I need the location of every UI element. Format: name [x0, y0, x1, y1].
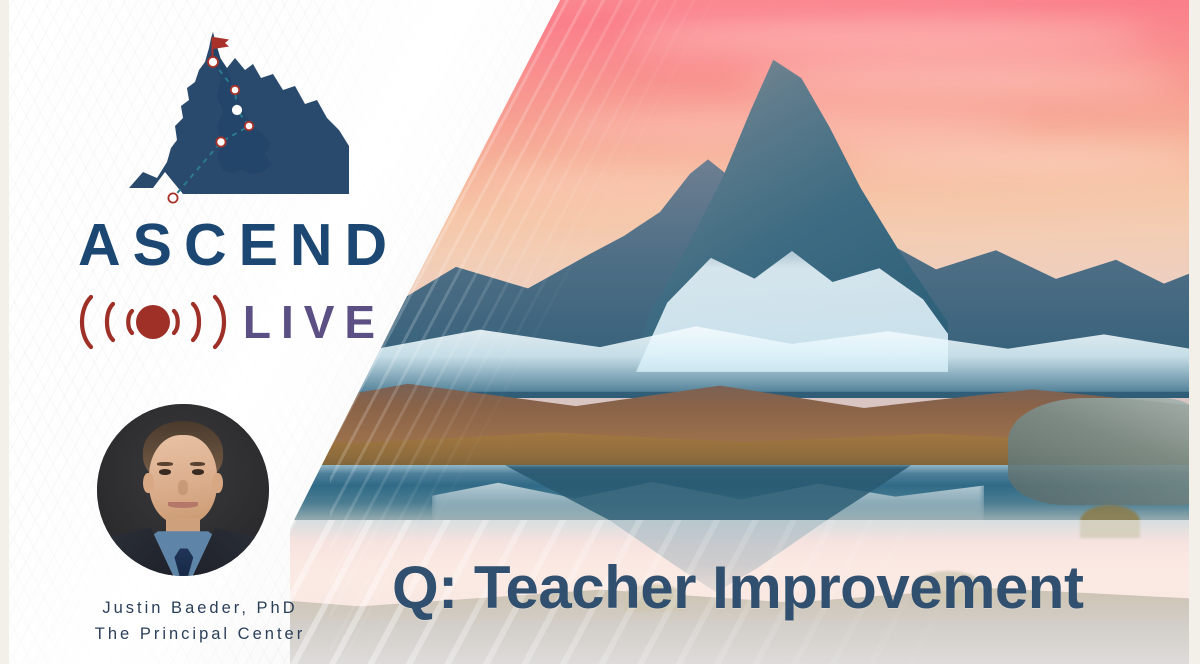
- avatar-mouth: [168, 502, 199, 508]
- avatar-brow: [157, 462, 172, 466]
- shore-boulder: [1008, 398, 1200, 504]
- page-title: Q: Teacher Improvement: [392, 558, 1083, 618]
- cloud-streak: [840, 146, 1200, 170]
- brand-logo[interactable]: ASCEND LIVE: [66, 22, 396, 353]
- avatar-ear: [143, 473, 153, 494]
- speaker-name: Justin Baeder, PhD: [0, 596, 400, 622]
- avatar-eye: [159, 469, 171, 475]
- speaker-byline: Justin Baeder, PhD The Principal Center: [0, 596, 400, 647]
- speaker-organization: The Principal Center: [0, 622, 400, 648]
- frame-border-left: [0, 0, 9, 664]
- cloud-streak: [624, 20, 1152, 53]
- avatar-ear: [212, 473, 222, 494]
- cloud-streak: [744, 66, 1176, 93]
- avatar-nose: [178, 480, 188, 495]
- live-wordmark: LIVE: [235, 299, 385, 345]
- frame-border-right: [1189, 0, 1200, 664]
- live-row: LIVE: [66, 291, 396, 353]
- ascend-wordmark: ASCEND: [66, 216, 396, 275]
- avatar: [97, 404, 269, 576]
- avatar-eye: [192, 469, 204, 475]
- broadcast-waves-icon: [77, 291, 229, 353]
- presentation-slide: ASCEND LIVE: [0, 0, 1200, 664]
- mountain-summit-flag-icon: [113, 22, 349, 212]
